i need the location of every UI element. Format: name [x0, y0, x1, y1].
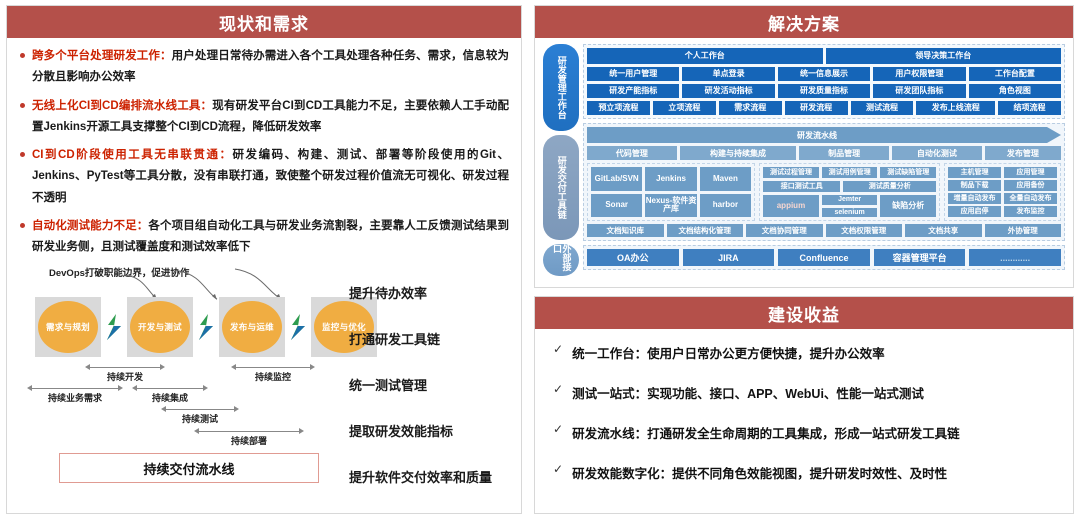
workbench-group: 个人工作台 领导决策工作台 统一用户管理 单点登录 统一信息展示 用户权限管理 … — [583, 44, 1065, 119]
test-top-row: 测试过程管理 测试用例管理 测试缺陷管理 — [763, 167, 936, 178]
cell-item[interactable]: 统一用户管理 — [587, 67, 679, 81]
document-row: 文档知识库 文档结构化管理 文档协同管理 文档权限管理 文档共享 外协管理 — [587, 224, 1061, 237]
solution-panel-title: 解决方案 — [535, 6, 1073, 38]
tool-harbor[interactable]: harbor — [700, 194, 751, 218]
sync-link-icon — [101, 307, 127, 347]
deploy-row: 增量自动发布 全量自动发布 — [948, 193, 1057, 204]
stage-item[interactable]: 代码管理 — [587, 146, 677, 160]
stage-label: 需求与规划 — [46, 321, 90, 333]
arrow-line-icon — [161, 403, 239, 411]
incremental-release[interactable]: 增量自动发布 — [948, 193, 1001, 204]
cell-item[interactable]: 预立项流程 — [587, 101, 650, 115]
tool-column: Jenkins Nexus-软件资产库 — [645, 167, 696, 217]
workbench-row-1: 统一用户管理 单点登录 统一信息展示 用户权限管理 工作台配置 — [587, 67, 1061, 81]
external-confluence[interactable]: Confluence — [778, 249, 870, 266]
cell-leader-workbench[interactable]: 领导决策工作台 — [826, 48, 1062, 64]
sync-link-icon — [193, 307, 219, 347]
cell-item[interactable]: 单点登录 — [682, 67, 774, 81]
test-process-mgmt[interactable]: 测试过程管理 — [763, 167, 819, 178]
defect-analysis[interactable]: 缺陷分析 — [880, 195, 936, 217]
stage-item[interactable]: 发布管理 — [985, 146, 1061, 160]
list-item: 打通研发工具链 — [349, 329, 529, 348]
current-situation-panel: 现状和需求 跨多个平台处理研发工作：用户处理日常待办需进入各个工具处理各种任务、… — [6, 5, 522, 514]
tool-maven[interactable]: Maven — [700, 167, 751, 191]
issue-key: 跨多个平台处理研发工作： — [32, 50, 172, 62]
tool-appium[interactable]: appium — [763, 195, 819, 217]
doc-item[interactable]: 外协管理 — [985, 224, 1062, 237]
deploy-row: 主机管理 应用管理 — [948, 167, 1057, 178]
arrow-label: 持续测试 — [161, 412, 239, 425]
tool-selenium[interactable]: selenium — [822, 208, 878, 218]
list-item: 统一测试管理 — [349, 375, 529, 394]
benefit-text: 研发效能数字化：提供不同角色效能视图，提升研发时效性、及时性 — [572, 463, 947, 482]
list-item: ✓ 研发效能数字化：提供不同角色效能视图，提升研发时效性、及时性 — [553, 463, 1055, 482]
layer-tab-toolchain: 研发交付工具链 — [543, 135, 579, 240]
cell-item[interactable]: 研发团队指标 — [873, 84, 965, 98]
arrow-label: 持续业务需求 — [27, 391, 123, 404]
app-backup[interactable]: 应用备份 — [1004, 180, 1057, 191]
arrow-line-icon — [85, 361, 165, 369]
host-mgmt[interactable]: 主机管理 — [948, 167, 1001, 178]
pipeline-arrow-band: 研发流水线 — [587, 127, 1061, 143]
workbench-row-2: 研发产能指标 研发活动指标 研发质量指标 研发团队指标 角色视图 — [587, 84, 1061, 98]
toolchain-group: 研发流水线 代码管理 构建与持续集成 制品管理 自动化测试 发布管理 — [583, 123, 1065, 241]
benefit-text: 测试一站式：实现功能、接口、APP、WebUi、性能一站式测试 — [572, 383, 924, 402]
arrow-label: 持续监控 — [231, 370, 315, 383]
deploy-row: 制品下载 应用备份 — [948, 180, 1057, 191]
release-monitor[interactable]: 发布监控 — [1004, 206, 1057, 217]
api-test-tool[interactable]: 接口测试工具 — [763, 181, 840, 192]
sync-link-icon — [285, 307, 311, 347]
cell-item[interactable]: 研发产能指标 — [587, 84, 679, 98]
cell-item[interactable]: 工作台配置 — [969, 67, 1061, 81]
cell-item[interactable]: 研发活动指标 — [682, 84, 774, 98]
doc-item[interactable]: 文档结构化管理 — [667, 224, 744, 237]
doc-item[interactable]: 文档协同管理 — [746, 224, 823, 237]
check-icon: ✓ — [553, 463, 563, 476]
tool-gitlab-svn[interactable]: GitLab/SVN — [591, 167, 642, 191]
arrow-label: 持续部署 — [194, 434, 304, 447]
list-item: 跨多个平台处理研发工作：用户处理日常待办需进入各个工具处理各种任务、需求，信息较… — [19, 46, 509, 89]
solution-panel-body: 研发管理工作台 研发交付工具链 外部接口 个人工作台 领导决策工作台 统一用户管… — [535, 38, 1073, 282]
external-container-platform[interactable]: 容器管理平台 — [874, 249, 966, 266]
external-group: OA办公 JIRA Confluence 容器管理平台 ............ — [583, 245, 1065, 270]
tool-sonar[interactable]: Sonar — [591, 194, 642, 218]
stage-label: 发布与运维 — [230, 321, 274, 333]
left-panel-body: 跨多个平台处理研发工作：用户处理日常待办需进入各个工具处理各种任务、需求，信息较… — [7, 38, 521, 477]
cell-item[interactable]: 测试流程 — [851, 101, 914, 115]
layer-tab-workbench: 研发管理工作台 — [543, 44, 579, 131]
list-item: 提取研发效能指标 — [349, 421, 529, 440]
check-icon: ✓ — [553, 423, 563, 436]
layer-tab-external: 外部接口 — [543, 244, 579, 276]
stage-label: 监控与优化 — [322, 321, 366, 333]
continuous-arrows: 持续开发 持续监控 持续业务需求 持续集成 — [19, 361, 349, 453]
pipeline-stage-row: 代码管理 构建与持续集成 制品管理 自动化测试 发布管理 — [587, 146, 1061, 160]
external-jira[interactable]: JIRA — [683, 249, 775, 266]
cell-item[interactable]: 用户权限管理 — [873, 67, 965, 81]
benefit-text: 研发流水线：打通研发全生命周期的工具集成，形成一站式研发工具链 — [572, 423, 960, 442]
cell-item[interactable]: 角色视图 — [969, 84, 1061, 98]
test-quality-analysis[interactable]: 测试质量分析 — [843, 181, 936, 192]
cycle-stage: 发布与运维 — [219, 297, 285, 357]
cell-item[interactable]: 发布上线流程 — [916, 101, 995, 115]
stage-item[interactable]: 构建与持续集成 — [680, 146, 797, 160]
cell-personal-workbench[interactable]: 个人工作台 — [587, 48, 823, 64]
pipeline-band-label: 研发流水线 — [587, 127, 1047, 143]
benefits-panel-body: ✓ 统一工作台：使用户日常办公更方便快捷，提升办公效率 ✓ 测试一站式：实现功能… — [535, 329, 1073, 517]
issue-list: 跨多个平台处理研发工作：用户处理日常待办需进入各个工具处理各种任务、需求，信息较… — [19, 46, 509, 258]
tool-column: Jemter selenium — [822, 195, 878, 217]
list-item: 无线上化CI到CD编排流水线工具：现有研发平台CI到CD工具能力不足，主要依赖人… — [19, 96, 509, 139]
issue-key: 无线上化CI到CD编排流水线工具： — [32, 100, 212, 112]
test-mid-row: 接口测试工具 测试质量分析 — [763, 181, 936, 192]
arrow-line-icon — [27, 382, 123, 390]
test-defect-mgmt[interactable]: 测试缺陷管理 — [880, 167, 936, 178]
benefits-panel-title: 建设收益 — [535, 297, 1073, 329]
tool-column: GitLab/SVN Sonar — [591, 167, 642, 217]
arrow-line-icon — [231, 361, 315, 369]
app-mgmt[interactable]: 应用管理 — [1004, 167, 1057, 178]
devops-cycle: 需求与规划 开发与测试 发布与运维 — [35, 297, 377, 357]
stage-label: 开发与测试 — [138, 321, 182, 333]
arrow-tip-icon — [1047, 127, 1061, 143]
full-release[interactable]: 全量自动发布 — [1004, 193, 1057, 204]
doc-item[interactable]: 文档权限管理 — [826, 224, 903, 237]
cell-item[interactable]: 需求流程 — [719, 101, 782, 115]
stage-item[interactable]: 制品管理 — [799, 146, 889, 160]
list-item: 提升软件交付效率和质量 — [349, 467, 529, 486]
arrow-group: 持续集成 — [132, 382, 208, 404]
doc-item[interactable]: 文档知识库 — [587, 224, 664, 237]
issue-key: CI到CD阶段使用工具无串联贯通： — [32, 149, 233, 161]
solution-panel: 解决方案 研发管理工作台 研发交付工具链 外部接口 个人工作台 领导决策工作台 — [534, 5, 1074, 288]
arrow-group: 持续业务需求 — [27, 382, 123, 404]
cell-item[interactable]: 研发质量指标 — [778, 84, 870, 98]
cell-item[interactable]: 立项流程 — [653, 101, 716, 115]
external-row: OA办公 JIRA Confluence 容器管理平台 ............ — [587, 249, 1061, 266]
arrow-group: 持续测试 — [161, 403, 239, 425]
arrow-line-icon — [132, 382, 208, 390]
benefit-text: 统一工作台：使用户日常办公更方便快捷，提升办公效率 — [572, 343, 885, 362]
workbench-row-3: 预立项流程 立项流程 需求流程 研发流程 测试流程 发布上线流程 结项流程 — [587, 101, 1061, 115]
test-tools-zone: 测试过程管理 测试用例管理 测试缺陷管理 接口测试工具 测试质量分析 appiu… — [759, 163, 940, 221]
continuous-delivery-pipeline-box: 持续交付流水线 — [59, 453, 319, 483]
cycle-stage: 开发与测试 — [127, 297, 193, 357]
stage-item[interactable]: 自动化测试 — [892, 146, 982, 160]
external-more[interactable]: ............ — [969, 249, 1061, 266]
test-case-mgmt[interactable]: 测试用例管理 — [822, 167, 878, 178]
devops-benefits-list: 提升待办效率 打通研发工具链 统一测试管理 提取研发效能指标 提升软件交付效率和… — [349, 283, 529, 513]
tool-column: Maven harbor — [700, 167, 751, 217]
tool-jenkins[interactable]: Jenkins — [645, 167, 696, 191]
doc-item[interactable]: 文档共享 — [905, 224, 982, 237]
deploy-zone: 主机管理 应用管理 制品下载 应用备份 增量自动发布 全量自动发布 — [944, 163, 1061, 221]
cell-item[interactable]: 统一信息展示 — [778, 67, 870, 81]
scm-build-tools-zone: GitLab/SVN Sonar Jenkins Nexus-软件资产库 Mav… — [587, 163, 755, 221]
arrow-group: 持续监控 — [231, 361, 315, 383]
list-item: ✓ 测试一站式：实现功能、接口、APP、WebUi、性能一站式测试 — [553, 383, 1055, 402]
devops-diagram: DevOps打破职能边界，促进协作 需求与规划 — [19, 265, 509, 477]
tool-zones: GitLab/SVN Sonar Jenkins Nexus-软件资产库 Mav… — [587, 163, 1061, 221]
check-icon: ✓ — [553, 383, 563, 396]
cycle-stage: 需求与规划 — [35, 297, 101, 357]
list-item: CI到CD阶段使用工具无串联贯通：研发编码、构建、测试、部署等阶段使用的Git、… — [19, 145, 509, 209]
architecture-layer-tabs: 研发管理工作台 研发交付工具链 外部接口 — [543, 44, 579, 276]
deploy-row: 应用启停 发布监控 — [948, 206, 1057, 217]
test-bottom-row: appium Jemter selenium 缺陷分析 — [763, 195, 936, 217]
left-panel-title: 现状和需求 — [7, 6, 521, 38]
list-item: ✓ 统一工作台：使用户日常办公更方便快捷，提升办公效率 — [553, 343, 1055, 362]
list-item: 提升待办效率 — [349, 283, 529, 302]
cell-item[interactable]: 研发流程 — [785, 101, 848, 115]
arrow-group: 持续部署 — [194, 425, 304, 447]
architecture-diagram: 研发管理工作台 研发交付工具链 外部接口 个人工作台 领导决策工作台 统一用户管… — [543, 44, 1065, 276]
benefits-panel: 建设收益 ✓ 统一工作台：使用户日常办公更方便快捷，提升办公效率 ✓ 测试一站式… — [534, 296, 1074, 514]
artifact-download[interactable]: 制品下载 — [948, 180, 1001, 191]
list-item: ✓ 研发流水线：打通研发全生命周期的工具集成，形成一站式研发工具链 — [553, 423, 1055, 442]
workbench-top-row: 个人工作台 领导决策工作台 — [587, 48, 1061, 64]
tool-nexus[interactable]: Nexus-软件资产库 — [645, 194, 696, 218]
issue-key: 自动化测试能力不足： — [32, 220, 148, 232]
check-icon: ✓ — [553, 343, 563, 356]
list-item: 自动化测试能力不足：各个项目组自动化工具与研发业务流割裂，主要靠人工反馈测试结果… — [19, 216, 509, 259]
architecture-content: 个人工作台 领导决策工作台 统一用户管理 单点登录 统一信息展示 用户权限管理 … — [583, 44, 1065, 276]
arrow-line-icon — [194, 425, 304, 433]
cell-item[interactable]: 结项流程 — [998, 101, 1061, 115]
external-oa[interactable]: OA办公 — [587, 249, 679, 266]
tool-jmeter[interactable]: Jemter — [822, 195, 878, 205]
app-start-stop[interactable]: 应用启停 — [948, 206, 1001, 217]
slide-page: 现状和需求 跨多个平台处理研发工作：用户处理日常待办需进入各个工具处理各种任务、… — [0, 0, 1080, 519]
arrow-group: 持续开发 — [85, 361, 165, 383]
